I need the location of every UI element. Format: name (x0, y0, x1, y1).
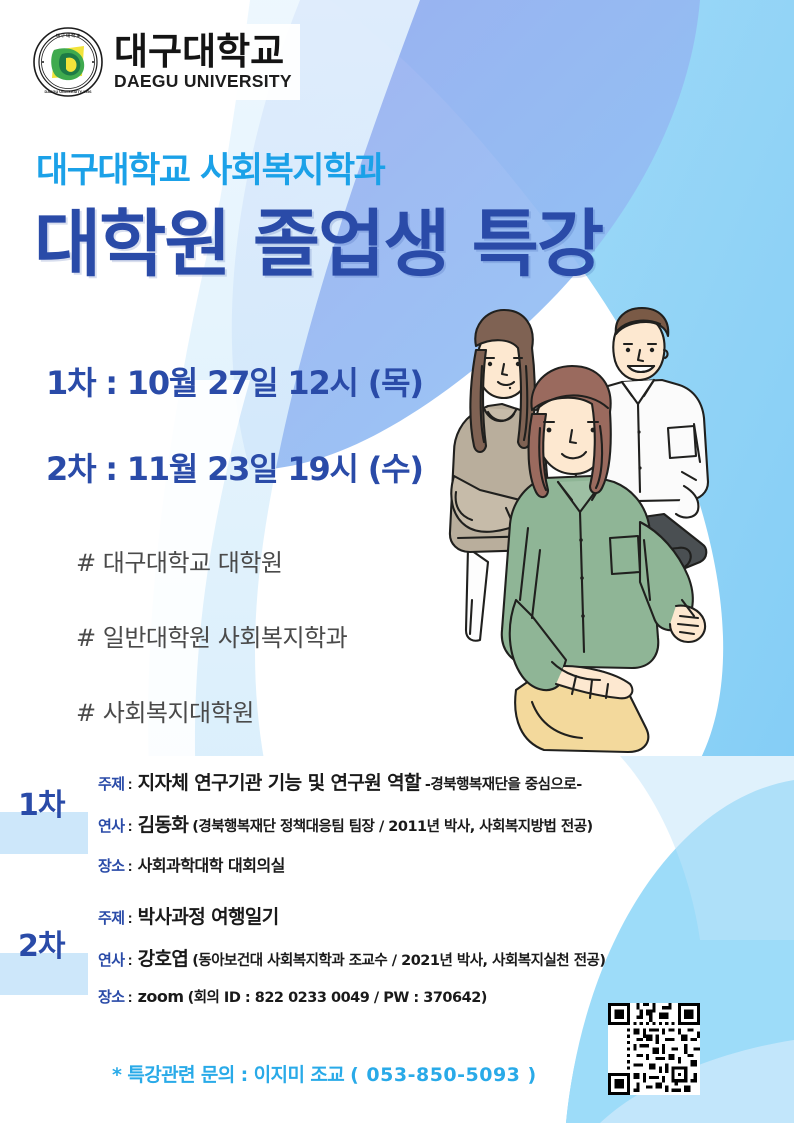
session-2-speaker-row: 연사 : 강호엽 (동아보건대 사회복지학과 조교수 / 2021년 박사, 사… (98, 944, 606, 971)
date-line-2: 2차 : 11월 23일 19시 (수) (46, 444, 423, 490)
session-2-place-row: 장소 : zoom (회의 ID : 822 0233 0049 / PW : … (98, 986, 606, 1007)
poster-canvas: 대 구 대 학 교 DAEGU UNIVERSITY 1956 대구대학교 DA… (0, 0, 794, 1123)
separator: : (128, 989, 133, 1006)
logo-name-ko: 대구대학교 (114, 33, 292, 70)
separator: : (128, 910, 133, 927)
place-value: 사회과학대학 대회의실 (138, 852, 285, 876)
contact-footer: * 특강관련 문의 : 이지미 조교 ( 053-850-5093 ) (112, 1060, 537, 1087)
separator: : (128, 818, 133, 835)
topic-value: 박사과정 여행일기 (138, 902, 279, 929)
logo-name-en: DAEGU UNIVERSITY (114, 73, 292, 91)
session-1-number: 1차 (18, 780, 64, 824)
session-1-place-row: 장소 : 사회과학대학 대회의실 (98, 852, 593, 876)
university-logo: 대 구 대 학 교 DAEGU UNIVERSITY 1956 대구대학교 DA… (30, 24, 300, 100)
hashtag-item: # 일반대학원 사회복지학과 (76, 618, 347, 653)
hashtag-item: # 사회복지대학원 (76, 693, 347, 728)
session-1-speaker-row: 연사 : 김동화 (경북행복재단 정책대응팀 팀장 / 2011년 박사, 사회… (98, 810, 593, 837)
session-2-details: 주제 : 박사과정 여행일기 연사 : 강호엽 (동아보건대 사회복지학과 조교… (98, 902, 606, 1022)
place-value: zoom (138, 987, 184, 1006)
students-illustration (432, 300, 784, 762)
topic-subnote: -경북행복재단을 중심으로- (425, 773, 582, 794)
separator: : (128, 952, 133, 969)
three-students-drawing (432, 300, 784, 762)
poster-title: 대학원 졸업생 특강 (34, 206, 602, 285)
place-label: 장소 (98, 986, 125, 1007)
place-label: 장소 (98, 855, 125, 876)
speaker-affiliation: (경북행복재단 정책대응팀 팀장 / 2011년 박사, 사회복지방법 전공) (192, 815, 592, 836)
poster-subtitle: 대구대학교 사회복지학과 (36, 142, 384, 193)
topic-label: 주제 (98, 773, 125, 794)
date-line-1: 1차 : 10월 27일 12시 (목) (46, 358, 423, 404)
speaker-affiliation: (동아보건대 사회복지학과 조교수 / 2021년 박사, 사회복지실천 전공) (192, 949, 605, 970)
speaker-label: 연사 (98, 815, 125, 836)
svg-text:대 구 대 학 교: 대 구 대 학 교 (56, 32, 80, 39)
date-list: 1차 : 10월 27일 12시 (목) 2차 : 11월 23일 19시 (수… (46, 358, 423, 530)
svg-text:DAEGU UNIVERSITY 1956: DAEGU UNIVERSITY 1956 (45, 90, 92, 94)
session-2-topic-row: 주제 : 박사과정 여행일기 (98, 902, 606, 929)
topic-value: 지자체 연구기관 기능 및 연구원 역할 (138, 768, 421, 795)
speaker-name: 강호엽 (138, 944, 189, 971)
separator: : (128, 776, 133, 793)
footer-text: 특강관련 문의 : 이지미 조교 (127, 1064, 344, 1086)
separator: : (128, 858, 133, 875)
footer-phone: ( 053-850-5093 ) (350, 1064, 537, 1086)
speaker-name: 김동화 (138, 810, 189, 837)
footer-asterisk: * (112, 1064, 121, 1086)
session-2-number: 2차 (18, 921, 64, 965)
session-1-details: 주제 : 지자체 연구기관 기능 및 연구원 역할 -경북행복재단을 중심으로-… (98, 768, 593, 891)
hashtag-item: # 대구대학교 대학원 (76, 543, 347, 578)
university-seal-icon: 대 구 대 학 교 DAEGU UNIVERSITY 1956 (32, 26, 104, 98)
qr-code-icon (608, 1003, 700, 1095)
session-1-topic-row: 주제 : 지자체 연구기관 기능 및 연구원 역할 -경북행복재단을 중심으로- (98, 768, 593, 795)
logo-wordmark: 대구대학교 DAEGU UNIVERSITY (114, 33, 292, 91)
speaker-label: 연사 (98, 949, 125, 970)
qr-code[interactable] (608, 1003, 700, 1095)
place-detail: (회의 ID : 822 0233 0049 / PW : 370642) (188, 986, 487, 1007)
hashtag-list: # 대구대학교 대학원 # 일반대학원 사회복지학과 # 사회복지대학원 (76, 543, 347, 768)
topic-label: 주제 (98, 907, 125, 928)
